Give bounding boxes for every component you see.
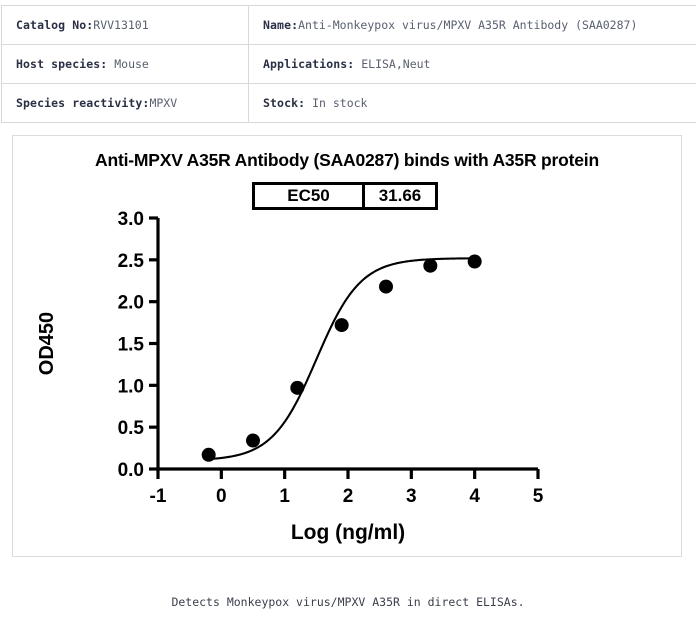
x-tick-label: 0 (216, 486, 227, 507)
host-species-cell: Host species: Mouse (2, 45, 249, 84)
y-tick-label: 1.0 (118, 376, 144, 397)
host-species-value: Mouse (107, 57, 149, 71)
x-tick-label: 1 (279, 486, 290, 507)
name-cell: Name:Anti-Monkeypox virus/MPXV A35R Anti… (249, 6, 696, 45)
data-point (379, 280, 393, 294)
table-row: Host species: Mouse Applications: ELISA,… (2, 45, 696, 84)
product-info-table: Catalog No:RVV13101 Name:Anti-Monkeypox … (1, 5, 696, 123)
species-reactivity-label: Species reactivity: (16, 96, 149, 110)
figure-caption: Detects Monkeypox virus/MPXV A35R in dir… (0, 595, 696, 609)
x-tick-label: 5 (533, 486, 544, 507)
applications-cell: Applications: ELISA,Neut (249, 45, 696, 84)
y-tick-label: 2.5 (118, 251, 145, 272)
stock-value: In stock (305, 96, 367, 110)
table-row: Catalog No:RVV13101 Name:Anti-Monkeypox … (2, 6, 696, 45)
y-tick-label: 1.5 (118, 335, 145, 356)
species-reactivity-value: MPXV (149, 96, 177, 110)
y-tick-label: 2.0 (118, 293, 144, 314)
host-species-label: Host species: (16, 57, 107, 71)
catalog-no-value: RVV13101 (93, 18, 148, 32)
applications-value: ELISA,Neut (354, 57, 430, 71)
name-label: Name: (263, 18, 298, 32)
y-tick-label: 0.0 (118, 460, 144, 481)
data-point (246, 434, 260, 448)
y-tick-label: 3.0 (118, 209, 144, 230)
data-point (290, 381, 304, 395)
x-tick-label: 4 (469, 486, 480, 507)
y-axis-title: OD450 (36, 312, 58, 375)
table-row: Species reactivity:MPXV Stock: In stock (2, 84, 696, 123)
data-point (202, 448, 216, 462)
stock-cell: Stock: In stock (249, 84, 696, 123)
catalog-no-cell: Catalog No:RVV13101 (2, 6, 249, 45)
x-tick-label: 3 (406, 486, 417, 507)
chart-panel: Anti-MPXV A35R Antibody (SAA0287) binds … (12, 135, 682, 557)
x-tick-label: -1 (150, 486, 167, 507)
stock-label: Stock: (263, 96, 305, 110)
y-tick-label: 0.5 (118, 418, 145, 439)
data-point (423, 259, 437, 273)
product-info-body: Catalog No:RVV13101 Name:Anti-Monkeypox … (2, 6, 696, 123)
data-point (468, 255, 482, 269)
x-axis-title: Log (ng/ml) (291, 521, 405, 544)
name-value: Anti-Monkeypox virus/MPXV A35R Antibody … (298, 18, 637, 32)
catalog-no-label: Catalog No: (16, 18, 93, 32)
data-point (335, 318, 349, 332)
x-tick-label: 2 (343, 486, 354, 507)
fit-curve (209, 258, 475, 459)
species-reactivity-cell: Species reactivity:MPXV (2, 84, 249, 123)
dose-response-plot: 0.00.51.01.52.02.53.0-1012345OD450Log (n… (13, 136, 683, 558)
applications-label: Applications: (263, 57, 354, 71)
